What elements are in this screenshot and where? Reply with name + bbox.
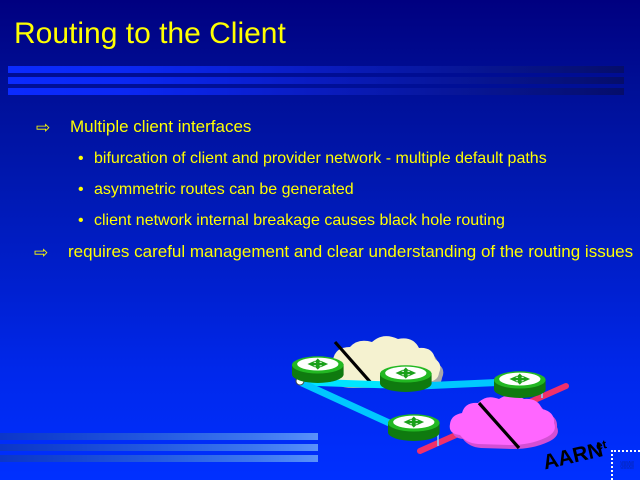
router-upper-left [292, 356, 344, 383]
bottom-decorative-bars [0, 433, 318, 466]
bullet-text: asymmetric routes can be generated [94, 181, 354, 198]
bullet-level1: ⇨ Multiple client interfaces [0, 116, 640, 138]
router-lower-left [388, 414, 440, 441]
decor-bar [8, 66, 624, 73]
decor-bar [8, 77, 624, 84]
page-title: Routing to the Client [14, 16, 286, 52]
bullet-text: Multiple client interfaces [70, 117, 251, 136]
slide-body: ⇨ Multiple client interfaces • bifurcati… [0, 116, 640, 271]
aarnet-logo: AARN et [541, 437, 621, 471]
bullet-dot-icon: • [78, 148, 84, 169]
presentation-slide: Routing to the Client ⇨ Multiple client … [0, 0, 640, 480]
bullet-level2: • asymmetric routes can be generated [0, 179, 640, 200]
bullet-text: requires careful management and clear un… [68, 242, 633, 261]
decor-bar [0, 455, 318, 462]
router-right [494, 371, 546, 398]
bullet-text: client network internal breakage causes … [94, 212, 505, 229]
rightwards-arrow-icon: ⇨ [34, 244, 56, 261]
aarnet-logo-suffix: et [594, 437, 608, 453]
decor-bar [8, 88, 624, 95]
bullet-level1: ⇨ requires careful management and clear … [0, 241, 640, 263]
router-upper-right [380, 365, 432, 392]
bullet-dot-icon: • [78, 210, 84, 231]
bullet-level2: • bifurcation of client and provider net… [0, 148, 640, 169]
rightwards-arrow-icon: ⇨ [36, 119, 58, 136]
bullet-dot-icon: • [78, 179, 84, 200]
decor-bar [0, 433, 318, 440]
bullet-text: bifurcation of client and provider netwo… [94, 150, 547, 167]
bullet-level2: • client network internal breakage cause… [0, 210, 640, 231]
decor-bar [0, 444, 318, 451]
sub-bullet-group: • bifurcation of client and provider net… [0, 148, 640, 231]
link-cyan-lower [302, 383, 398, 427]
top-decorative-bars [8, 66, 624, 99]
corner-stamp: ░░░ [611, 450, 640, 480]
corner-stamp-text: ░░░ [620, 462, 633, 470]
